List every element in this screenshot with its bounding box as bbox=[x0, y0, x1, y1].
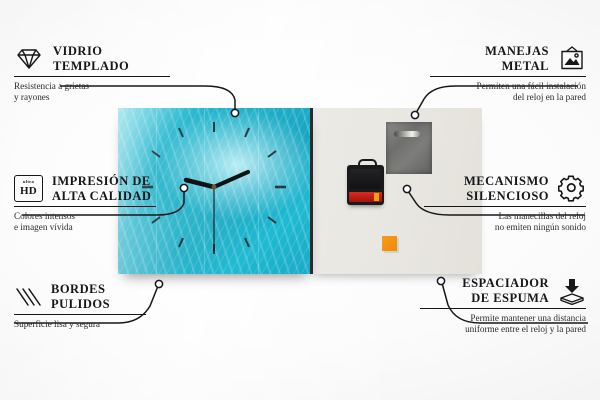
callout-rule bbox=[424, 206, 586, 207]
clock-mechanism bbox=[347, 165, 384, 205]
callout-espaciador-espuma[interactable]: ESPACIADOR DE ESPUMA Permite mantener un… bbox=[420, 276, 586, 335]
mechanism-face bbox=[350, 169, 381, 189]
callout-manejas-metal[interactable]: MANEJAS METAL Permiten una fácil instala… bbox=[430, 44, 586, 103]
callout-header: VIDRIO TEMPLADO bbox=[14, 44, 170, 73]
callout-rule bbox=[14, 206, 156, 207]
callout-header: ESPACIADOR DE ESPUMA bbox=[420, 276, 586, 305]
callout-rule bbox=[430, 76, 586, 77]
polished-edges-icon bbox=[14, 285, 42, 309]
callout-title: MANEJAS METAL bbox=[485, 44, 549, 73]
callout-header: MECANISMO SILENCIOSO bbox=[424, 174, 586, 203]
callout-header: MANEJAS METAL bbox=[430, 44, 586, 73]
callout-mecanismo-silencioso[interactable]: MECANISMO SILENCIOSO Las manecillas del … bbox=[424, 174, 586, 233]
foam-spacer-icon bbox=[558, 277, 586, 305]
callout-header: ultra HD IMPRESIÓN DE ALTA CALIDAD bbox=[14, 174, 156, 203]
callout-rule bbox=[14, 314, 146, 315]
metal-hanger-plate bbox=[386, 122, 432, 174]
callout-header: BORDES PULIDOS bbox=[14, 282, 146, 311]
callout-vidrio-templado[interactable]: VIDRIO TEMPLADO Resistencia a grietas y … bbox=[14, 44, 170, 103]
connector-endpoint bbox=[155, 280, 162, 287]
diamond-icon bbox=[14, 47, 44, 71]
infographic-canvas: VIDRIO TEMPLADO Resistencia a grietas y … bbox=[0, 0, 600, 400]
callout-impresion-alta-calidad[interactable]: ultra HD IMPRESIÓN DE ALTA CALIDAD Color… bbox=[14, 174, 156, 233]
battery-terminal bbox=[374, 193, 379, 201]
callout-rule bbox=[420, 308, 586, 309]
foam-spacer-pad bbox=[382, 236, 397, 251]
callout-title: ESPACIADOR DE ESPUMA bbox=[462, 276, 549, 305]
mechanism-battery bbox=[349, 192, 382, 202]
gear-icon bbox=[558, 175, 586, 202]
callout-title: MECANISMO SILENCIOSO bbox=[464, 174, 549, 203]
callout-title: IMPRESIÓN DE ALTA CALIDAD bbox=[52, 174, 151, 203]
picture-frame-hanger-icon bbox=[558, 46, 586, 72]
hanger-slot bbox=[394, 131, 420, 137]
callout-title: VIDRIO TEMPLADO bbox=[53, 44, 129, 73]
ultra-hd-icon: ultra HD bbox=[14, 175, 43, 202]
callout-rule bbox=[14, 76, 170, 77]
callout-title: BORDES PULIDOS bbox=[51, 282, 110, 311]
callout-bordes-pulidos[interactable]: BORDES PULIDOS Superficie lisa y segura bbox=[14, 282, 146, 330]
